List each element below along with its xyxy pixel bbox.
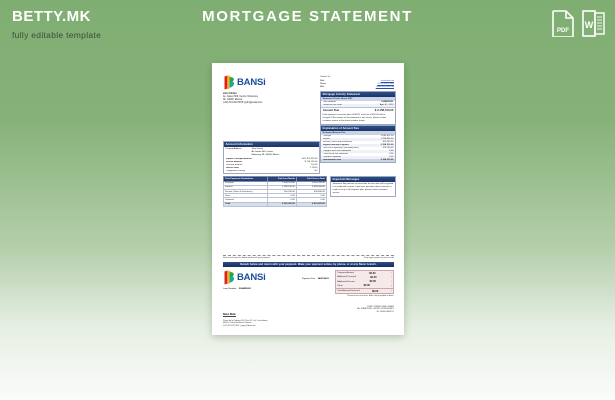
bansi-logo-mark xyxy=(223,75,236,90)
bansi-logo-mark xyxy=(223,270,236,285)
page-title: MORTGAGE STATEMENT xyxy=(0,8,615,25)
tear-note-left: Detach and return the bottom portion wit… xyxy=(223,257,270,260)
svg-text:W: W xyxy=(585,20,594,30)
coupon-loan-label: Loan Number xyxy=(223,288,236,290)
remittance-address: Bansi Bank Paseo de la Reforma 505, Piso… xyxy=(223,302,293,328)
mail-to-address: JOHN CITIZEN HOME OWNER AV. JUAREZ 800, … xyxy=(324,302,394,328)
tear-note-right: Keep upper portion for your records xyxy=(364,257,394,260)
coupon-total-row: Total Amount Enclosed$0.00| xyxy=(336,288,393,293)
coupon-bansi-logo: BANSi xyxy=(223,270,284,285)
amount-field-line[interactable]: | xyxy=(391,285,392,287)
amount-field-line[interactable]: | xyxy=(391,276,392,278)
customer-address: John Citizen Av. Juárez 800, Centro, Mon… xyxy=(223,93,318,105)
statement-value: 5148855201 xyxy=(381,101,393,103)
bansi-logo: BANSi xyxy=(223,75,318,90)
statement-summary-panel: Mortgage Activity Statement Statement Pe… xyxy=(320,91,396,125)
coupon-due-date: 04/01/2023 xyxy=(318,278,329,280)
account-row: Prepayment PenaltyNo xyxy=(224,170,319,173)
amount-field-line[interactable]: | xyxy=(391,290,392,292)
contact-label-mail: Mail xyxy=(320,86,324,89)
property-address-label: Property Address xyxy=(226,148,252,157)
table-total-row: Total2,303,341.006,910,023.00 xyxy=(224,202,327,206)
statement-value: April 01, 2023 xyxy=(380,104,394,106)
important-messages-panel: Important Messages Statement: Any amount… xyxy=(330,176,396,197)
mail-to-line3: NL, 64000, MEXICO xyxy=(324,311,394,314)
customer-address-line3: (+52) 81 1234-5678 | john@email.com xyxy=(223,102,318,105)
statement-footnote: If the payment is received after 04/16/2… xyxy=(321,113,395,124)
amount-field-line[interactable]: | xyxy=(391,281,392,283)
contact-title: Contact Us xyxy=(320,76,394,79)
remit-line3: (+52) 55 5555-1111 | pagos@bansi.mx xyxy=(223,325,293,328)
contact-value-mail[interactable]: contacto@bansi.mx xyxy=(376,86,394,89)
past-payments-table: Past Payments Breakdown Paid Last Month … xyxy=(223,176,327,207)
statement-label: Posted of Due Date xyxy=(323,104,342,106)
messages-panel-body: Statement: Any amount received after the… xyxy=(331,182,395,196)
amount-due-label: Amount Due xyxy=(323,108,340,112)
bansi-logo-text: BANSi xyxy=(237,78,266,88)
explanation-total-row: Total Amount Due 2,158,310.00 xyxy=(321,159,395,162)
coupon-banner: Detach below and return with your paymen… xyxy=(223,262,394,267)
document-page[interactable]: BANSi John Citizen Av. Juárez 800, Centr… xyxy=(212,63,404,335)
amount-field-line[interactable]: | xyxy=(391,272,392,274)
word-file-icon[interactable]: W xyxy=(582,10,605,37)
svg-text:PDF: PDF xyxy=(557,28,569,34)
mortgage-statement: BANSi John Citizen Av. Juárez 800, Centr… xyxy=(212,63,404,335)
explanation-total-label: Total Amount Due xyxy=(323,159,342,161)
remit-name: Bansi Bank xyxy=(223,314,236,317)
bansi-logo-text: BANSi xyxy=(237,273,266,283)
statement-label: Loan Number xyxy=(323,101,336,103)
tear-line xyxy=(223,255,394,256)
property-address: John Citizen Av. Juárez 800, Centro, Mon… xyxy=(252,148,280,157)
coupon-amount-box[interactable]: Payment Amount$0.00| Additional Principa… xyxy=(335,270,394,294)
coupon-due-label: Payment Due xyxy=(302,278,315,280)
file-format-badges: PDF W xyxy=(552,10,605,37)
pdf-file-icon[interactable]: PDF xyxy=(552,10,575,37)
explanation-total-value: 2,158,310.00 xyxy=(381,159,394,161)
account-information-panel: Account Information Property Address Joh… xyxy=(223,141,320,174)
coupon-loan-number: 5148855201 xyxy=(239,288,251,290)
brand-tagline: fully editable template xyxy=(12,30,101,40)
explanation-panel: Explanation of Amount Due Estimated Amou… xyxy=(320,125,396,163)
amount-due-value: $ 2,158,310.00 xyxy=(375,108,394,112)
coupon-amount-note: Please do not send cash. Make check paya… xyxy=(336,295,394,298)
